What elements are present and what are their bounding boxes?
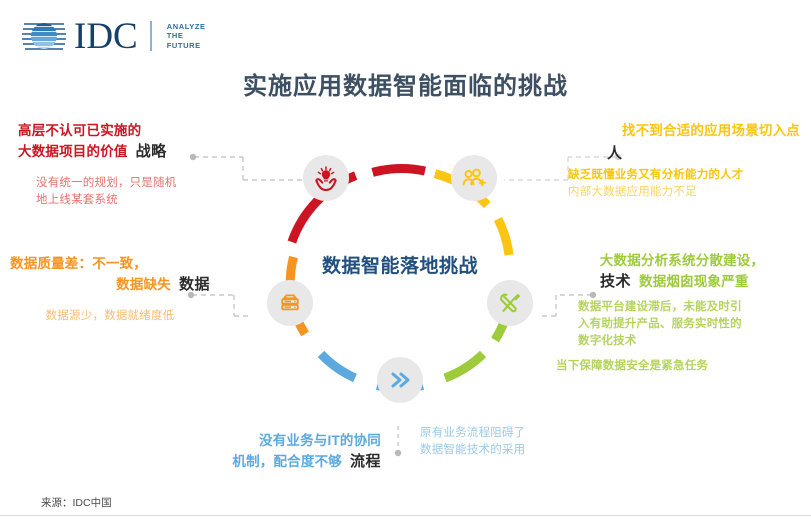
idc-wordmark: IDC <box>74 18 138 55</box>
process-headline-line-1: 没有业务与IT的协同 <box>206 432 381 450</box>
tech-sub-line-3: 数字化技术 <box>578 333 808 350</box>
tech-sub-line-2: 入有助提升产品、服务实时性的 <box>578 316 808 333</box>
data-sub: 数据源少，数据就绪度低 <box>10 308 210 325</box>
tech-headline-line-1: 大数据分析系统分散建设， <box>556 252 808 270</box>
tech-sub-line-4: 当下保障数据安全是紧急任务 <box>556 358 808 375</box>
source-note: 来源：IDC中国 <box>41 495 112 510</box>
people-headline: 找不到合适的应用场景切入点 <box>540 122 800 140</box>
idc-globe-icon <box>22 16 66 56</box>
strategy-sub-line-1: 没有统一的规划，只是随机 <box>36 175 218 192</box>
tagline-line-3: FUTURE <box>167 41 206 51</box>
connector-dot-process <box>395 450 401 456</box>
arc-tech-2 <box>445 354 483 378</box>
people-sub-bold: 缺乏既懂业务又有分析能力的人才 <box>568 167 800 184</box>
tools-icon <box>497 290 523 316</box>
block-data: 数据质量差：不一致， 数据缺失 数据 数据源少，数据就绪度低 <box>10 255 210 325</box>
idc-logo: IDC ANALYZE THE FUTURE <box>22 14 232 58</box>
tagline-line-2: THE <box>167 31 206 41</box>
block-process-sub: 原有业务流程阻碍了 数据智能技术的采用 <box>420 425 590 459</box>
tech-sub-line-1: 数据平台建设滞后，未能及时引 <box>578 299 808 316</box>
strategy-sub-line-2: 地上线某套系统 <box>36 192 218 209</box>
connector-process <box>388 424 412 470</box>
process-sub-line-2: 数据智能技术的采用 <box>420 442 590 459</box>
block-tech: 大数据分析系统分散建设， 技术 数据烟囱现象严重 数据平台建设滞后，未能及时引 … <box>556 252 808 375</box>
people-sub-light: 内部大数据应用能力不足 <box>568 184 800 201</box>
tech-headline-line-2: 数据烟囱现象严重 <box>639 273 749 291</box>
add-people-icon <box>461 165 487 191</box>
arc-process-2 <box>321 354 355 378</box>
tech-category-label: 技术 <box>600 270 631 291</box>
strategy-headline-line-1: 高层不认可已实施的 <box>18 122 218 140</box>
block-strategy: 高层不认可已实施的 大数据项目的价值 战略 没有统一的规划，只是随机 地上线某套… <box>18 122 218 209</box>
data-headline-line-1: 数据质量差：不一致， <box>10 255 210 273</box>
people-category-label: 人 <box>607 142 800 163</box>
block-process: 没有业务与IT的协同 机制，配合度不够 流程 <box>206 432 381 471</box>
idc-tagline: ANALYZE THE FUTURE <box>167 22 206 51</box>
node-process[interactable] <box>377 357 423 403</box>
page-title: 实施应用数据智能面临的挑战 <box>0 66 811 101</box>
data-headline-line-2: 数据缺失 <box>116 276 171 294</box>
node-people[interactable] <box>451 155 497 201</box>
arc-people-2 <box>498 219 509 255</box>
process-headline-line-2: 机制，配合度不够 <box>232 453 342 471</box>
process-category-label: 流程 <box>350 450 381 471</box>
process-sub-line-1: 原有业务流程阻碍了 <box>420 425 590 442</box>
database-stack-icon <box>277 290 303 316</box>
data-category-label: 数据 <box>179 273 210 294</box>
wheel-center-label: 数据智能落地挑战 <box>255 251 545 278</box>
tagline-line-1: ANALYZE <box>167 22 206 32</box>
arc-strategy-2 <box>373 168 425 172</box>
logo-divider <box>150 21 152 51</box>
strategy-category-label: 战略 <box>136 140 167 161</box>
node-tech[interactable] <box>487 280 533 326</box>
hands-lightbulb-icon <box>313 165 339 191</box>
double-chevron-icon <box>387 367 413 393</box>
strategy-headline-line-2: 大数据项目的价值 <box>18 143 128 161</box>
block-people: 找不到合适的应用场景切入点 人 缺乏既懂业务又有分析能力的人才 内部大数据应用能… <box>540 122 800 201</box>
footer-divider <box>0 515 811 516</box>
